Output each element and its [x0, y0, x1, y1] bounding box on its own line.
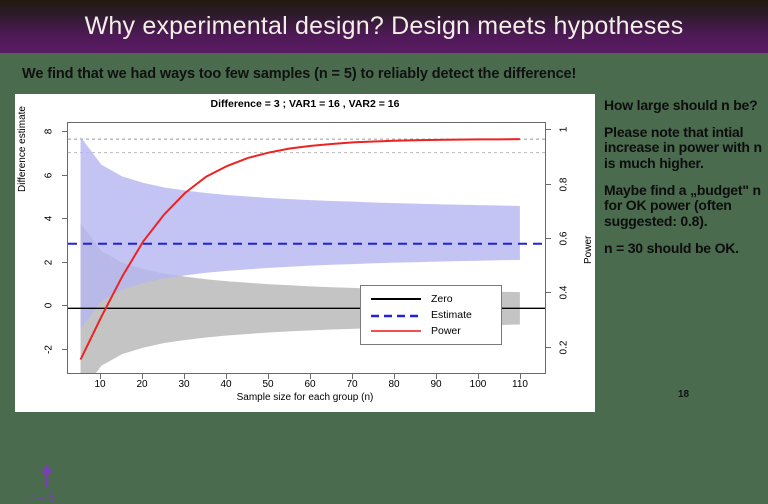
x-tickmark-30 — [184, 374, 185, 379]
y-axis-label: Difference estimate — [17, 106, 28, 192]
chart-panel: Difference = 3 ; VAR1 = 16 , VAR2 = 16 D… — [15, 94, 595, 412]
x-tickmark-90 — [436, 374, 437, 379]
note-paragraph-3: Maybe find a „budget" n for OK power (of… — [604, 183, 764, 230]
x-tickmark-110 — [520, 374, 521, 379]
x-tickmark-50 — [268, 374, 269, 379]
x-tickmark-70 — [352, 374, 353, 379]
y2-tickmark-0_8 — [546, 184, 551, 185]
x-tick-90: 90 — [423, 379, 449, 390]
y2-tickmark-0_4 — [546, 292, 551, 293]
page-title: Why experimental design? Design meets hy… — [85, 12, 684, 41]
y-tick-2: 2 — [44, 252, 55, 274]
y2-tick-0_6: 0.6 — [559, 226, 570, 252]
legend-entry-zero: Zero — [367, 291, 495, 307]
slide-title-bar: Why experimental design? Design meets hy… — [0, 0, 768, 53]
legend-swatch-power — [367, 325, 425, 337]
x-tickmark-80 — [394, 374, 395, 379]
chart-title: Difference = 3 ; VAR1 = 16 , VAR2 = 16 — [15, 98, 595, 110]
x-tick-60: 60 — [297, 379, 323, 390]
n-marker-arrow-icon — [39, 464, 55, 488]
slide: Why experimental design? Design meets hy… — [0, 0, 768, 428]
y2-tick-0_8: 0.8 — [559, 172, 570, 198]
x-tick-20: 20 — [129, 379, 155, 390]
y2-tickmark-1_0 — [546, 129, 551, 130]
legend-label-estimate: Estimate — [431, 309, 472, 321]
note-paragraph-2: Please note that intial increase in powe… — [604, 125, 764, 172]
y2-tick-0_2: 0.2 — [559, 335, 570, 361]
legend-entry-power: Power — [367, 323, 495, 339]
x-tickmark-60 — [310, 374, 311, 379]
y-tick-4: 4 — [44, 208, 55, 230]
x-tickmark-10 — [100, 374, 101, 379]
y-tick-6: 6 — [44, 165, 55, 187]
legend-entry-estimate: Estimate — [367, 307, 495, 323]
legend-label-power: Power — [431, 325, 461, 337]
legend-dash-icon — [367, 310, 425, 322]
y-tick-8: 8 — [44, 121, 55, 143]
x-tickmark-20 — [142, 374, 143, 379]
x-tick-110: 110 — [507, 379, 533, 390]
y2-tickmark-0_6 — [546, 238, 551, 239]
legend-label-zero: Zero — [431, 293, 453, 305]
notes-column: How large should n be? Please note that … — [604, 98, 764, 267]
page-number: 18 — [678, 389, 689, 400]
legend-swatch-zero — [367, 293, 425, 305]
chart-legend: Zero Estimate Power — [360, 285, 502, 345]
x-tick-40: 40 — [213, 379, 239, 390]
y-tick-minus2: -2 — [44, 339, 55, 361]
y2-tick-1_0: 1 — [559, 117, 570, 143]
y2-tick-0_4: 0.4 — [559, 280, 570, 306]
x-tick-80: 80 — [381, 379, 407, 390]
x-tick-30: 30 — [171, 379, 197, 390]
n-marker-label: n = 5 — [28, 490, 55, 504]
x-axis-label: Sample size for each group (n) — [15, 392, 595, 403]
note-paragraph-1: How large should n be? — [604, 98, 764, 114]
x-tick-50: 50 — [255, 379, 281, 390]
y-tick-0: 0 — [44, 295, 55, 317]
x-tick-100: 100 — [465, 379, 491, 390]
x-tick-10: 10 — [87, 379, 113, 390]
y2-tickmark-0_2 — [546, 347, 551, 348]
slide-subtitle: We find that we had ways too few samples… — [22, 66, 576, 82]
x-tick-70: 70 — [339, 379, 365, 390]
note-paragraph-4: n = 30 should be OK. — [604, 241, 764, 257]
y2-axis-label: Power — [583, 236, 594, 264]
x-tickmark-100 — [478, 374, 479, 379]
x-tickmark-40 — [226, 374, 227, 379]
legend-swatch-estimate — [367, 309, 425, 321]
